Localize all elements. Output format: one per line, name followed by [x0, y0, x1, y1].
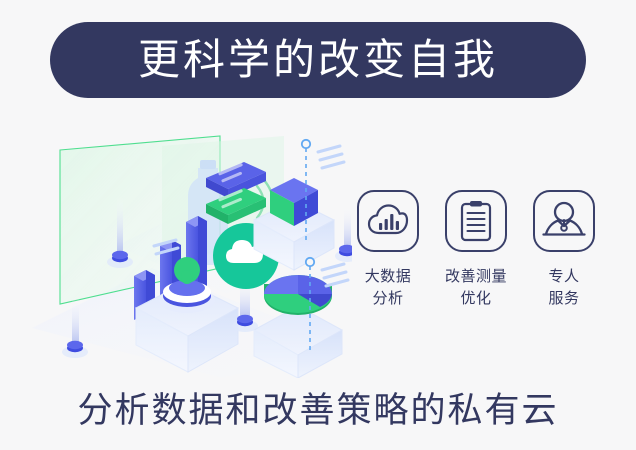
pie-chart-3d — [264, 275, 332, 315]
clipboard-icon — [459, 200, 493, 242]
feature-list: 大数据 分析 改善测量 优化 — [352, 190, 600, 340]
feature-label: 改善测量 优化 — [445, 266, 507, 310]
header-banner: 更科学的改变自我 — [50, 22, 586, 98]
feature-label: 专人 服务 — [548, 266, 579, 310]
footer-tagline: 分析数据和改善策略的私有云 — [0, 382, 636, 433]
support-person-icon-frame — [533, 190, 595, 252]
cloud-bar-chart-icon — [367, 203, 409, 239]
feature-item-measurement[interactable]: 改善测量 优化 — [440, 190, 512, 310]
support-person-icon — [542, 201, 586, 241]
poster-canvas: 更科学的改变自我 — [0, 0, 636, 450]
feature-item-big-data[interactable]: 大数据 分析 — [352, 190, 424, 310]
clipboard-icon-frame — [445, 190, 507, 252]
feature-item-support[interactable]: 专人 服务 — [528, 190, 600, 310]
feature-label: 大数据 分析 — [365, 266, 412, 310]
hero-illustration — [22, 118, 352, 378]
cloud-bar-chart-icon-frame — [357, 190, 419, 252]
pin-marker — [335, 204, 352, 262]
page-title: 更科学的改变自我 — [138, 39, 498, 81]
